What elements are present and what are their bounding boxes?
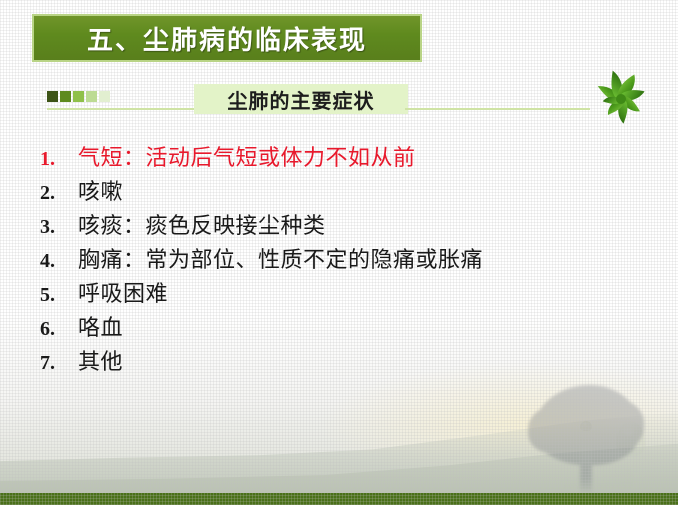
tree-trunk xyxy=(580,443,592,493)
divider-left xyxy=(47,108,196,110)
marker-squares xyxy=(47,91,110,102)
list-item-number: 7. xyxy=(40,352,78,375)
tree-crown-right xyxy=(592,399,644,449)
divider-right xyxy=(405,108,590,110)
list-item-label: 呼吸困难 xyxy=(78,276,168,308)
list-item-label: 气短：活动后气短或体力不如从前 xyxy=(78,140,416,172)
list-item-label: 咯血 xyxy=(78,310,123,342)
tree-silhouette-icon xyxy=(528,385,646,493)
symptom-list: 1. 气短：活动后气短或体力不如从前 2. 咳嗽 3. 咳痰：痰色反映接尘种类 … xyxy=(40,140,640,378)
list-item-label: 胸痛：常为部位、性质不定的隐痛或胀痛 xyxy=(78,242,483,274)
list-item: 3. 咳痰：痰色反映接尘种类 xyxy=(40,208,640,242)
slide-title-box: 五、尘肺病的临床表现 xyxy=(32,14,422,62)
list-item-number: 4. xyxy=(40,250,78,273)
list-item-number: 1. xyxy=(40,148,78,171)
subtitle-row: 尘肺的主要症状 xyxy=(0,82,678,114)
square-3-icon xyxy=(73,91,84,102)
list-item-label: 其他 xyxy=(78,344,123,376)
page-title: 五、尘肺病的临床表现 xyxy=(87,20,367,57)
list-item: 2. 咳嗽 xyxy=(40,174,640,208)
subtitle-highlight-box: 尘肺的主要症状 xyxy=(194,84,408,114)
ground-strip xyxy=(0,493,678,505)
list-item-number: 5. xyxy=(40,284,78,307)
list-item-number: 6. xyxy=(40,318,78,341)
list-item-label: 咳痰：痰色反映接尘种类 xyxy=(78,208,326,240)
square-2-icon xyxy=(60,91,71,102)
list-item: 4. 胸痛：常为部位、性质不定的隐痛或胀痛 xyxy=(40,242,640,276)
square-4-icon xyxy=(86,91,97,102)
list-item: 6. 咯血 xyxy=(40,310,640,344)
list-item: 5. 呼吸困难 xyxy=(40,276,640,310)
leaf-cluster-icon xyxy=(588,68,654,126)
list-item-number: 2. xyxy=(40,182,78,205)
list-item: 7. 其他 xyxy=(40,344,640,378)
slide-canvas: 五、尘肺病的临床表现 尘肺的主要症状 xyxy=(0,0,678,505)
list-item-number: 3. xyxy=(40,216,78,239)
subtitle-text: 尘肺的主要症状 xyxy=(228,85,375,114)
list-item-label: 咳嗽 xyxy=(78,174,123,206)
square-1-icon xyxy=(47,91,58,102)
list-item: 1. 气短：活动后气短或体力不如从前 xyxy=(40,140,640,174)
square-5-icon xyxy=(99,91,110,102)
